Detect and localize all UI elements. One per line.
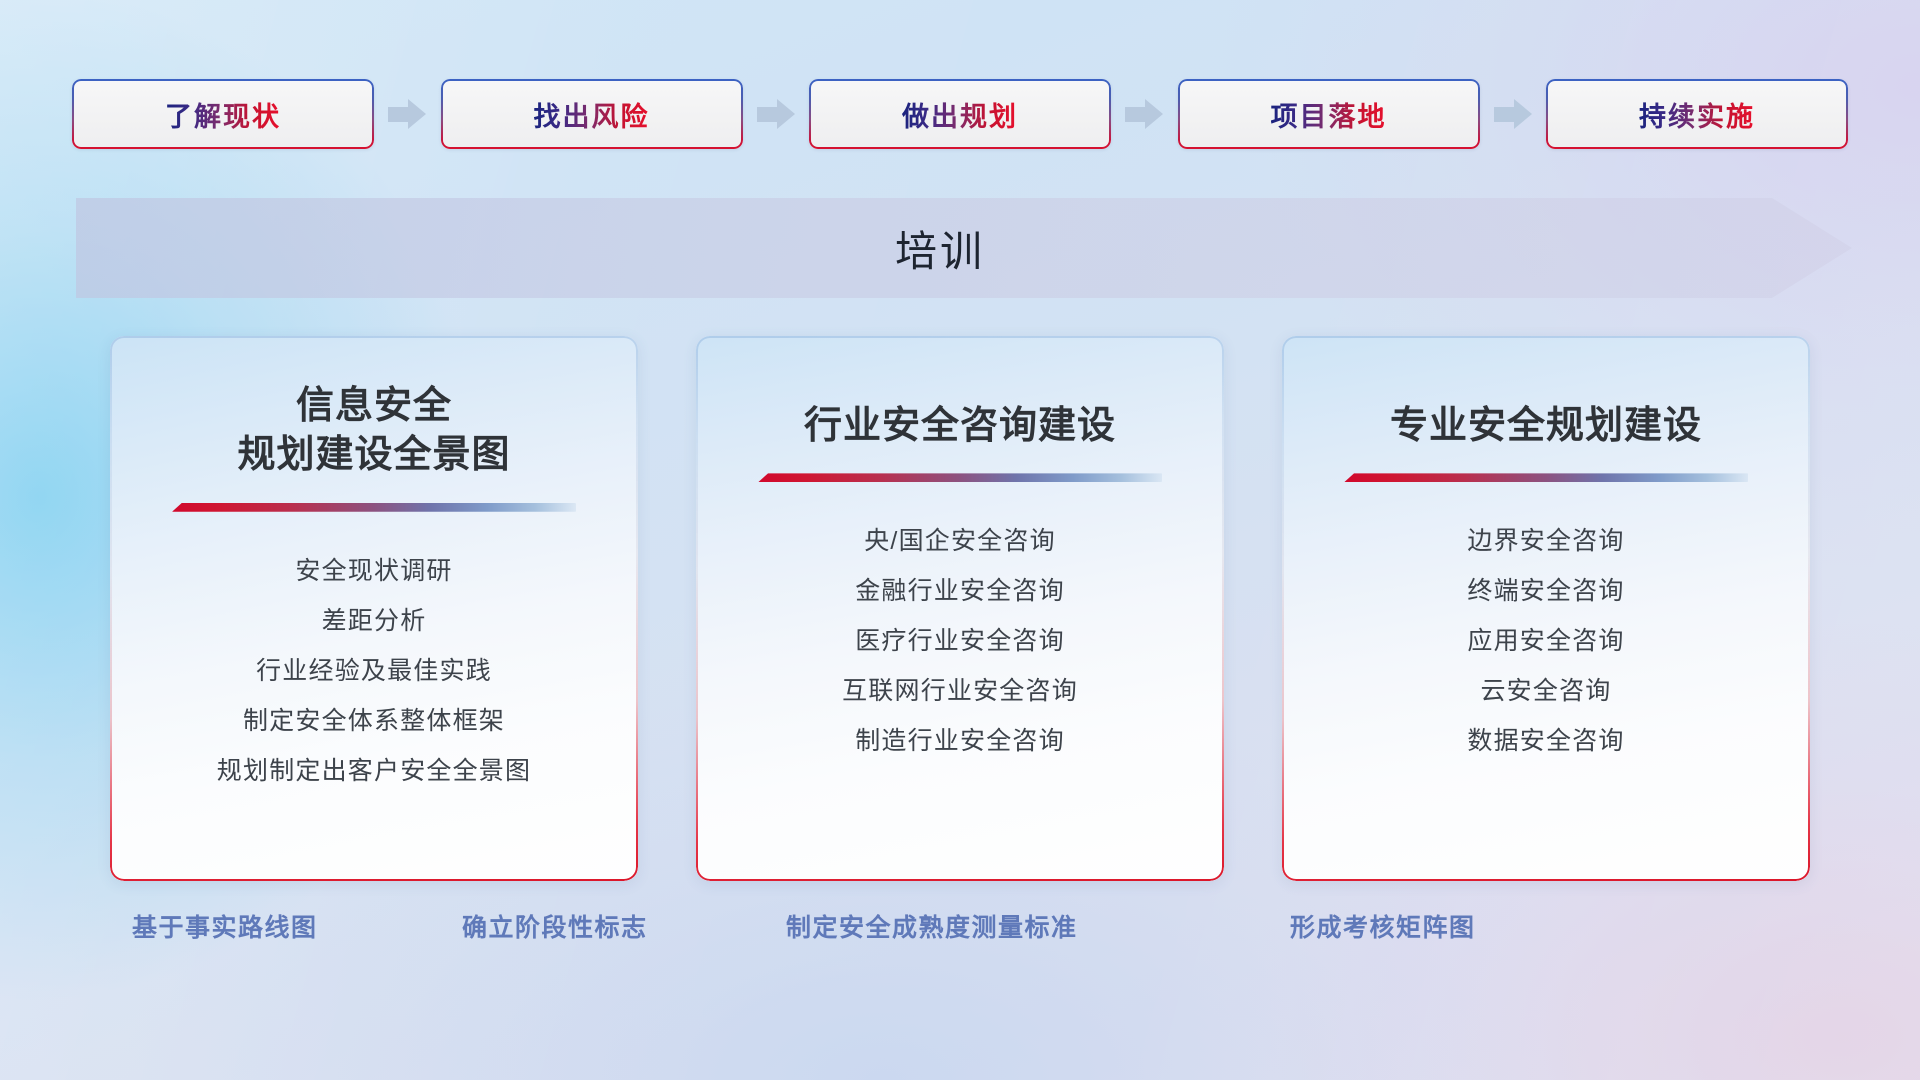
list-item: 行业经验及最佳实践 bbox=[110, 646, 638, 696]
arrow-shaft bbox=[1125, 107, 1147, 122]
service-card-1[interactable]: 信息安全 规划建设全景图 安全现状调研 差距分析 行业经验及最佳实践 制定安全体… bbox=[110, 336, 638, 881]
list-item: 安全现状调研 bbox=[110, 546, 638, 596]
service-card-list: 央/国企安全咨询 金融行业安全咨询 医疗行业安全咨询 互联网行业安全咨询 制造行… bbox=[696, 516, 1224, 766]
process-step-5[interactable]: 持续实施 bbox=[1546, 79, 1848, 149]
list-item: 云安全咨询 bbox=[1282, 666, 1810, 716]
list-item: 数据安全咨询 bbox=[1282, 716, 1810, 766]
arrow-shaft bbox=[757, 107, 779, 122]
process-step-1[interactable]: 了解现状 bbox=[72, 79, 374, 149]
card-divider bbox=[172, 503, 576, 512]
list-item: 央/国企安全咨询 bbox=[696, 516, 1224, 566]
list-item: 应用安全咨询 bbox=[1282, 616, 1810, 666]
list-item: 医疗行业安全咨询 bbox=[696, 616, 1224, 666]
list-item: 金融行业安全咨询 bbox=[696, 566, 1224, 616]
arrow-shaft bbox=[388, 107, 410, 122]
process-step-3[interactable]: 做出规划 bbox=[809, 79, 1111, 149]
service-card-title: 行业安全咨询建设 bbox=[696, 402, 1224, 451]
service-card-title: 信息安全 规划建设全景图 bbox=[110, 382, 638, 481]
list-item: 互联网行业安全咨询 bbox=[696, 666, 1224, 716]
service-card-list: 边界安全咨询 终端安全咨询 应用安全咨询 云安全咨询 数据安全咨询 bbox=[1282, 516, 1810, 766]
training-banner-title: 培训 bbox=[76, 198, 1852, 298]
right-arrow-icon bbox=[388, 99, 426, 129]
arrow-head bbox=[777, 99, 795, 129]
outcome-caption-3: 制定安全成熟度测量标准 bbox=[786, 908, 1078, 944]
process-step-label: 做出规划 bbox=[902, 95, 1018, 134]
outcome-caption-4: 形成考核矩阵图 bbox=[1290, 908, 1476, 944]
arrow-head bbox=[1514, 99, 1532, 129]
service-card-list: 安全现状调研 差距分析 行业经验及最佳实践 制定安全体系整体框架 规划制定出客户… bbox=[110, 546, 638, 796]
list-item: 制造行业安全咨询 bbox=[696, 716, 1224, 766]
process-step-2[interactable]: 找出风险 bbox=[441, 79, 743, 149]
card-divider bbox=[758, 473, 1162, 482]
right-arrow-icon bbox=[757, 99, 795, 129]
right-arrow-icon bbox=[1125, 99, 1163, 129]
outcome-captions-row: 基于事实路线图 确立阶段性标志 制定安全成熟度测量标准 形成考核矩阵图 bbox=[0, 908, 1920, 964]
training-banner: 培训 bbox=[76, 198, 1852, 298]
outcome-caption-2: 确立阶段性标志 bbox=[462, 908, 648, 944]
list-item: 差距分析 bbox=[110, 596, 638, 646]
service-cards-row: 信息安全 规划建设全景图 安全现状调研 差距分析 行业经验及最佳实践 制定安全体… bbox=[110, 336, 1810, 881]
arrow-head bbox=[408, 99, 426, 129]
process-step-label: 持续实施 bbox=[1639, 95, 1755, 134]
outcome-caption-1: 基于事实路线图 bbox=[132, 908, 318, 944]
service-card-title: 专业安全规划建设 bbox=[1282, 402, 1810, 451]
list-item: 边界安全咨询 bbox=[1282, 516, 1810, 566]
process-step-4[interactable]: 项目落地 bbox=[1178, 79, 1480, 149]
process-steps-row: 了解现状 找出风险 做出规划 项目落地 持续实施 bbox=[72, 78, 1848, 150]
service-card-3[interactable]: 专业安全规划建设 边界安全咨询 终端安全咨询 应用安全咨询 云安全咨询 数据安全… bbox=[1282, 336, 1810, 881]
process-step-label: 找出风险 bbox=[534, 95, 650, 134]
process-step-label: 了解现状 bbox=[165, 95, 281, 134]
service-card-2[interactable]: 行业安全咨询建设 央/国企安全咨询 金融行业安全咨询 医疗行业安全咨询 互联网行… bbox=[696, 336, 1224, 881]
arrow-head bbox=[1145, 99, 1163, 129]
card-divider bbox=[1344, 473, 1748, 482]
list-item: 终端安全咨询 bbox=[1282, 566, 1810, 616]
process-step-label: 项目落地 bbox=[1271, 95, 1387, 134]
list-item: 制定安全体系整体框架 bbox=[110, 696, 638, 746]
list-item: 规划制定出客户安全全景图 bbox=[110, 746, 638, 796]
right-arrow-icon bbox=[1494, 99, 1532, 129]
arrow-shaft bbox=[1494, 107, 1516, 122]
